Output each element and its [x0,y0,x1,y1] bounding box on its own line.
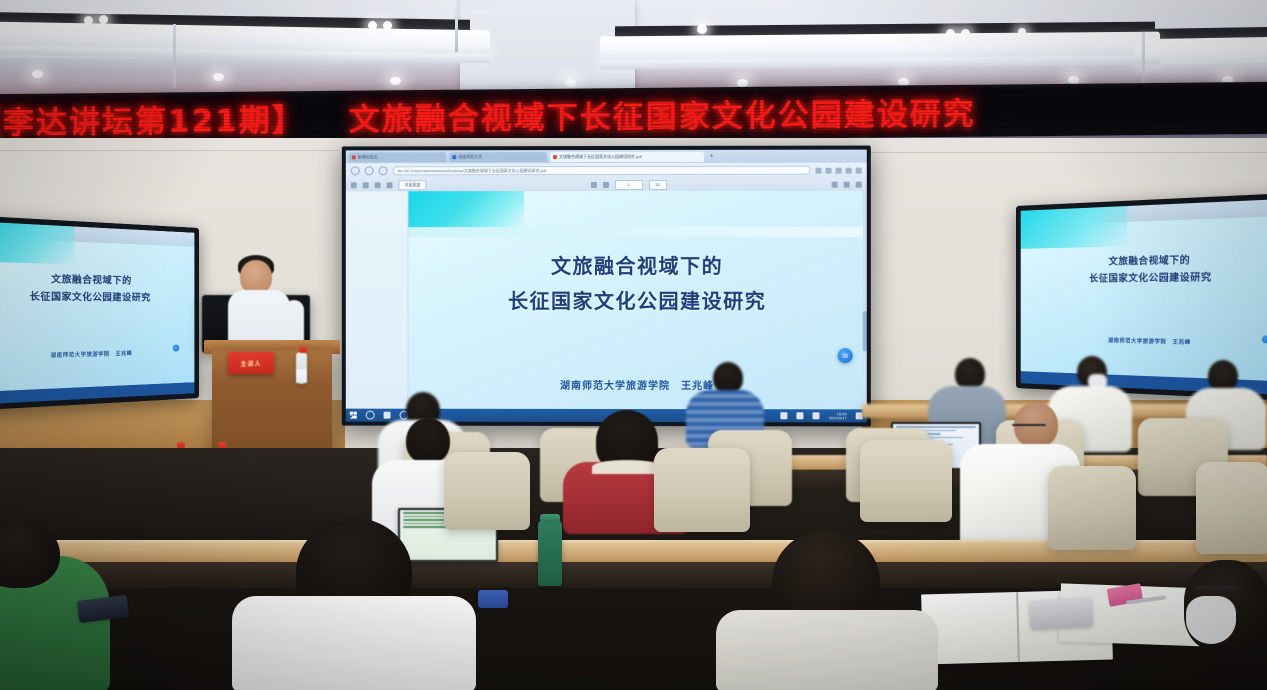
slide-title-line-2: 长征国家文化公园建设研究 [0,288,187,307]
menu-icon[interactable] [856,167,862,173]
slide-title: 文旅融合视域下的 长征国家文化公园建设研究 [408,249,866,319]
collar [592,460,662,474]
search-icon[interactable] [387,182,393,188]
pdf-viewer-body: 文旅融合视域下的 长征国家文化公园建设研究 湖南师范大学旅游学院 王兆峰 ✉ [346,191,867,410]
slide-title-line-1: 文旅融合视域下的 [408,249,866,284]
speaker-head [240,260,272,294]
podium-nameplate: 主讲人 [228,352,274,374]
zoom-out-icon[interactable] [591,182,597,188]
side-monitor-left-title: 文旅融合视域下的 长征国家文化公园建设研究 [0,269,187,307]
browser-url-bar: file:///C:/Users/Administrator/Desktop/文… [346,163,867,179]
share-icon[interactable]: ✉ [838,348,853,363]
side-monitor-left-slide: 文旅融合视域下的 长征国家文化公园建设研究 湖南师范大学旅游学院 王兆峰 [0,221,194,404]
thumbnail-icon[interactable] [363,182,369,188]
slide-accent-band [1021,206,1127,249]
side-monitor-right-byline: 湖南师范大学旅游学院 王兆峰 [1021,335,1267,348]
ceiling-downlight-icon [32,70,43,78]
slide-title-line-2: 长征国家文化公园建设研究 [1030,268,1267,288]
browser-actions [816,167,862,173]
pdf-page-total-value: 32 [655,180,659,188]
tab-favicon-icon [452,155,456,159]
side-monitor-left[interactable]: 文旅融合视域下的 长征国家文化公园建设研究 湖南师范大学旅游学院 王兆峰 [0,215,199,410]
slide-byline: 湖南师范大学旅游学院 王兆峰 [408,377,866,393]
ceiling-downlight-icon [390,77,401,85]
browser-tab-label: 湖南师范大学 [458,152,482,162]
pdf-sidebar[interactable] [346,191,409,409]
taskview-icon[interactable] [384,412,391,419]
foreground-body [232,596,476,690]
browser-tab-strip: 新建标签页 湖南师范大学 文旅融合视域下长征国家文化公园建设研究.pdf + [346,150,867,164]
ceiling-downlight-icon [213,73,224,81]
slide-accent-band [0,221,75,264]
chair [1196,462,1267,554]
pendant-rod [173,24,176,88]
taskbar-clock[interactable]: 15:09 2023/5/17 [829,412,847,420]
search-icon[interactable] [366,411,375,420]
volume-icon[interactable] [813,412,820,419]
profile-icon[interactable] [846,167,852,173]
ime-icon[interactable] [781,412,788,419]
water-bottle [296,352,307,384]
clock-date: 2023/5/17 [829,416,847,420]
lecture-hall-photo: 【李达讲坛第121期】文旅融合视域下长征国家文化公园建设研究 文旅融合视域下的 … [0,0,1267,690]
download-icon[interactable] [826,167,832,173]
pdf-toolbar: 页面宽度 1 32 [346,178,867,192]
print-icon[interactable] [832,181,838,187]
zoom-in-icon[interactable] [603,181,609,187]
chair [444,452,530,530]
pdf-page-total: 32 [649,179,667,189]
network-icon[interactable] [797,412,804,419]
eyeglasses [1012,424,1046,426]
presentation-slide: 文旅融合视域下的 长征国家文化公园建设研究 湖南师范大学旅游学院 王兆峰 ✉ [408,191,866,410]
phone[interactable] [478,590,508,608]
wall-seam [0,150,340,151]
download-icon[interactable] [844,181,850,187]
back-icon[interactable] [351,166,360,175]
foreground-body [716,610,938,690]
windows-start-icon[interactable] [350,412,357,419]
browser-tab[interactable]: 湖南师范大学 [449,152,547,162]
pdf-zoom-value: 页面宽度 [404,181,420,189]
pdf-page-current: 1 [627,180,629,188]
url-text: file:///C:/Users/Administrator/Desktop/文… [398,166,547,175]
browser-tab-label: 新建标签页 [358,152,378,162]
led-banner-title: 文旅融合视域下长征国家文化公园建设研究 [349,96,976,138]
browser-tab-label: 文旅融合视域下长征国家文化公园建设研究.pdf [559,151,642,161]
extensions-icon[interactable] [836,167,842,173]
main-projection-screen[interactable]: 新建标签页 湖南师范大学 文旅融合视域下长征国家文化公园建设研究.pdf + f… [342,146,871,427]
led-banner-text: 【李达讲坛第121期】文旅融合视域下长征国家文化公园建设研究 [0,88,976,143]
chair [654,448,750,532]
ceiling-downlight-icon [737,79,748,87]
face-mask [1186,596,1236,644]
chair [860,440,952,522]
side-monitor-right-title: 文旅融合视域下的 长征国家文化公园建设研究 [1030,250,1267,288]
pdf-scrollbar[interactable] [863,191,867,410]
podium-nameplate-text: 主讲人 [240,359,261,368]
wall-seam [862,152,1267,153]
led-banner-prefix: 【李达讲坛第121期】 [0,103,305,142]
browser-tab[interactable]: 新建标签页 [349,152,447,162]
fullscreen-icon[interactable] [856,181,862,187]
thermos [538,520,562,586]
pendant-rod [455,12,458,52]
tab-favicon-icon [352,155,356,159]
sidebar-icon[interactable] [351,182,357,188]
ceiling-downlight-icon [565,79,576,87]
url-input[interactable]: file:///C:/Users/Administrator/Desktop/文… [393,166,811,176]
pdf-zoom-select[interactable]: 页面宽度 [399,180,427,190]
slide-accent-band [408,191,524,227]
pdf-favicon-icon [553,155,557,159]
new-tab-button[interactable]: + [707,152,716,161]
browser-tab-active[interactable]: 文旅融合视域下长征国家文化公园建设研究.pdf [550,151,704,161]
rotate-icon[interactable] [375,182,381,188]
bookmark-icon[interactable] [816,167,822,173]
track-spotlight-icon [697,24,707,34]
pdf-page-input[interactable]: 1 [615,179,643,189]
eyeglasses [1194,586,1238,589]
home-icon[interactable] [379,166,388,175]
side-monitor-left-byline: 湖南师范大学旅游学院 王兆峰 [0,348,194,361]
chair [1048,466,1136,550]
slide-title-line-2: 长征国家文化公园建设研究 [408,284,866,319]
slide-accent-band-secondary [408,227,866,237]
reload-icon[interactable] [365,166,374,175]
phone[interactable] [1029,598,1092,629]
